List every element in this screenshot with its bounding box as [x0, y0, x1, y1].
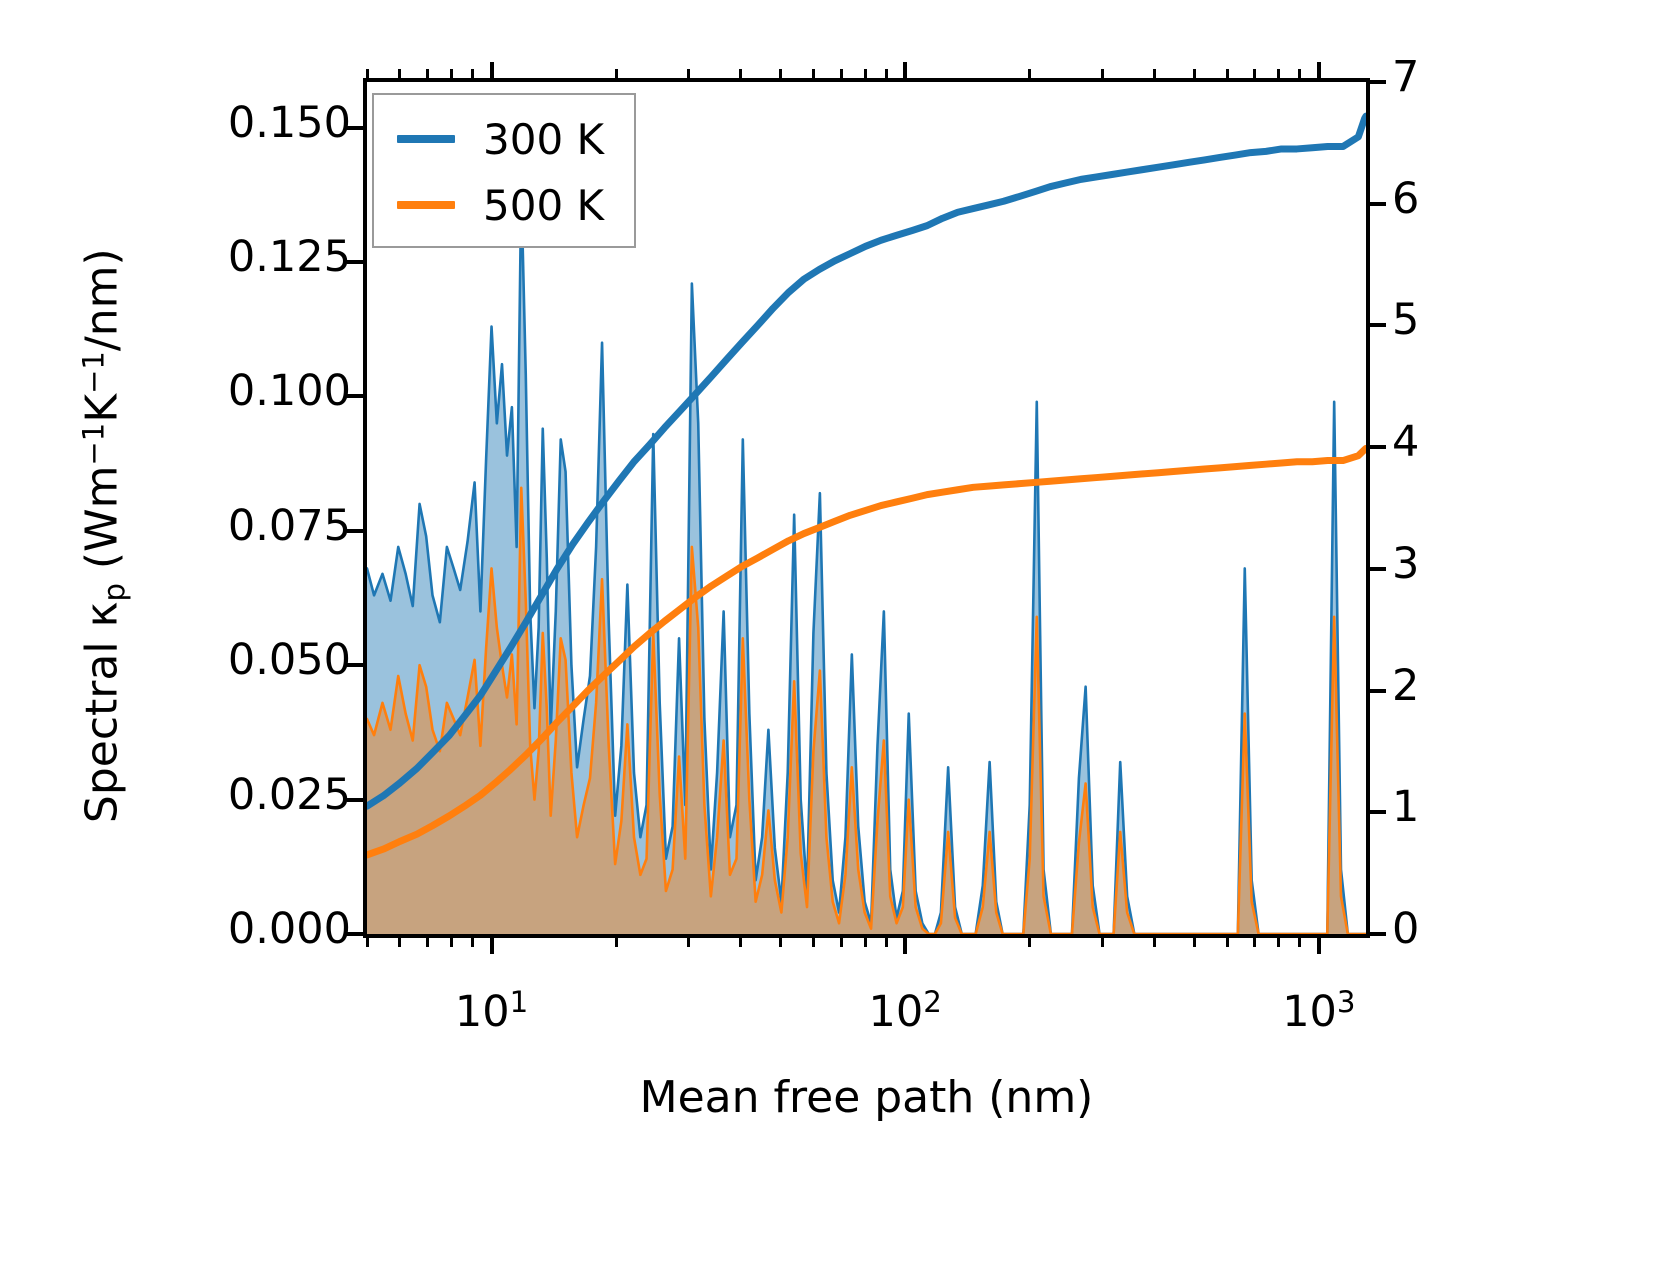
xtick-mark-minor-2-4: [1153, 938, 1156, 947]
legend-box[interactable]: 300 K 500 K: [372, 93, 636, 248]
legend-item-300k[interactable]: 300 K: [374, 109, 634, 169]
figure-canvas: 0.0000.0250.0500.0750.1000.1250.150 0123…: [0, 0, 1660, 1274]
xtick-mark-top-minor-2-8: [1277, 69, 1280, 78]
xtick-mark-top-minor-1-8: [864, 69, 867, 78]
xtick-mark-top-minor-2-6: [1226, 69, 1229, 78]
y-left-tick-0_150: 0.150: [228, 102, 351, 145]
xtick-mark-top-minor-0-5: [366, 69, 369, 78]
xtick-mark-minor-0-5: [366, 938, 369, 947]
ytick-mark-left-1: [347, 798, 363, 802]
xtick-mark-minor-0-6: [398, 938, 401, 947]
y-right-tick-5: 5: [1392, 299, 1419, 342]
xtick-mark-minor-1-3: [687, 938, 690, 947]
xtick-mark-top-minor-1-7: [840, 69, 843, 78]
y-right-tick-2: 2: [1392, 665, 1419, 708]
xtick-mark-top-minor-1-6: [812, 69, 815, 78]
ytick-mark-left-5: [347, 260, 363, 264]
legend-item-500k[interactable]: 500 K: [374, 175, 634, 235]
xtick-mark-top-minor-2-9: [1298, 69, 1301, 78]
xtick-mark-minor-1-7: [840, 938, 843, 947]
xtick-mark-top-major-1e3: [1317, 62, 1321, 78]
xtick-mark-minor-1-9: [885, 938, 888, 947]
xtick-mark-major-1e3: [1317, 938, 1321, 954]
xtick-mark-minor-0-7: [426, 938, 429, 947]
x-axis-title: Mean free path (nm): [363, 1072, 1370, 1123]
xtick-mark-major-1e1: [490, 938, 494, 954]
ytick-mark-right-0: [1370, 932, 1386, 936]
xtick-mark-minor-2-8: [1277, 938, 1280, 947]
xtick-mark-top-minor-0-6: [398, 69, 401, 78]
xtick-mark-top-minor-1-3: [687, 69, 690, 78]
xtick-mark-top-minor-2-4: [1153, 69, 1156, 78]
xtick-mark-minor-0-8: [450, 938, 453, 947]
x-tick-1e3: 103: [1282, 988, 1355, 1034]
ytick-mark-right-4: [1370, 445, 1386, 449]
ytick-mark-right-2: [1370, 689, 1386, 693]
legend-swatch-300k: [397, 135, 455, 143]
y-left-tick-0_050: 0.050: [228, 639, 351, 682]
y-left-tick-0_125: 0.125: [228, 236, 351, 279]
legend-label-300k: 300 K: [483, 115, 604, 164]
xtick-mark-top-major-1e2: [903, 62, 907, 78]
ytick-mark-right-7: [1370, 80, 1386, 84]
xtick-mark-top-minor-0-9: [471, 69, 474, 78]
xtick-mark-minor-2-3: [1101, 938, 1104, 947]
y-right-tick-6: 6: [1392, 178, 1419, 221]
xtick-mark-minor-1-5: [779, 938, 782, 947]
ytick-mark-right-5: [1370, 323, 1386, 327]
y-right-tick-0: 0: [1392, 908, 1419, 951]
legend-swatch-500k: [397, 201, 455, 209]
xtick-mark-minor-2-9: [1298, 938, 1301, 947]
xtick-mark-minor-1-4: [739, 938, 742, 947]
xtick-mark-top-minor-1-4: [739, 69, 742, 78]
ytick-mark-left-4: [347, 394, 363, 398]
xtick-mark-major-1e2: [903, 938, 907, 954]
xtick-mark-top-minor-0-7: [426, 69, 429, 78]
ytick-mark-left-6: [347, 126, 363, 130]
y-right-tick-3: 3: [1392, 543, 1419, 586]
xtick-mark-top-minor-0-8: [450, 69, 453, 78]
y-right-tick-7: 7: [1392, 56, 1419, 99]
y-left-tick-0_100: 0.100: [228, 370, 351, 413]
ytick-mark-right-3: [1370, 567, 1386, 571]
xtick-mark-minor-2-6: [1226, 938, 1229, 947]
ytick-mark-right-6: [1370, 202, 1386, 206]
xtick-mark-top-minor-1-2: [615, 69, 618, 78]
y-left-tick-0_075: 0.075: [228, 505, 351, 548]
y-right-tick-1: 1: [1392, 786, 1419, 829]
xtick-mark-top-minor-2-3: [1101, 69, 1104, 78]
ytick-mark-left-2: [347, 663, 363, 667]
xtick-mark-top-major-1e1: [490, 62, 494, 78]
xtick-mark-minor-1-2: [615, 938, 618, 947]
legend-label-500k: 500 K: [483, 181, 604, 230]
ytick-mark-left-0: [347, 932, 363, 936]
y-left-tick-0_000: 0.000: [228, 908, 351, 951]
xtick-mark-minor-2-5: [1193, 938, 1196, 947]
xtick-mark-minor-2-2: [1028, 938, 1031, 947]
xtick-mark-minor-2-7: [1253, 938, 1256, 947]
xtick-mark-top-minor-1-9: [885, 69, 888, 78]
xtick-mark-minor-1-6: [812, 938, 815, 947]
x-tick-1e2: 102: [869, 988, 942, 1034]
xtick-mark-top-minor-2-7: [1253, 69, 1256, 78]
xtick-mark-minor-0-9: [471, 938, 474, 947]
y-axis-left-title: Spectral κp (Wm−1K−1/nm): [76, 186, 131, 886]
xtick-mark-top-minor-2-5: [1193, 69, 1196, 78]
ytick-mark-left-3: [347, 529, 363, 533]
y-left-tick-0_025: 0.025: [228, 774, 351, 817]
xtick-mark-top-minor-2-2: [1028, 69, 1031, 78]
x-tick-1e1: 101: [455, 988, 528, 1034]
ytick-mark-right-1: [1370, 810, 1386, 814]
xtick-mark-top-minor-1-5: [779, 69, 782, 78]
y-right-tick-4: 4: [1392, 421, 1419, 464]
xtick-mark-minor-1-8: [864, 938, 867, 947]
